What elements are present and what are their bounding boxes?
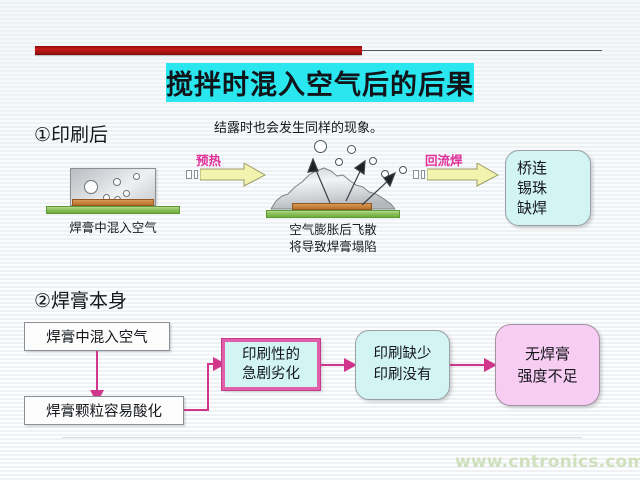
air-escape-arrows — [300, 145, 415, 210]
footer-rule — [62, 437, 582, 438]
pcb-board — [266, 210, 400, 218]
air-bubble-icon — [123, 190, 130, 197]
air-bubble-icon — [133, 173, 140, 180]
condensation-note: 结露时也会发生同样的现象。 — [214, 117, 383, 136]
air-bubble-icon — [84, 180, 98, 194]
preheat-arrow-icon — [200, 163, 266, 187]
preheat-lead-tick — [194, 170, 198, 179]
flow-box-particle-oxidize: 焊膏颗粒容易酸化 — [24, 396, 184, 425]
reflow-lead-tick — [421, 170, 425, 179]
air-bubble-icon — [113, 178, 121, 186]
flow-box-air-in-paste: 焊膏中混入空气 — [24, 322, 170, 351]
flow-arrow-line-3 — [450, 364, 488, 366]
pcb-board — [46, 206, 180, 214]
copper-pad — [72, 199, 154, 206]
flow-box-print-missing: 印刷缺少 印刷没有 — [355, 330, 450, 400]
section-2-heading: ②焊膏本身 — [34, 286, 127, 313]
reflow-arrow-icon — [427, 163, 499, 187]
flow-box-printability-degrade: 印刷性的 急剧劣化 — [222, 339, 320, 390]
defects-box: 桥连 锡珠 缺焊 — [505, 150, 591, 226]
flow-elbow-segment-v — [207, 364, 209, 411]
flow-arrow-down-line — [96, 351, 98, 395]
center-diagram-caption-line1: 空气膨胀后飞散 — [266, 222, 400, 238]
flow-elbow-segment-h1 — [184, 409, 209, 411]
header-thin-rule — [362, 50, 602, 51]
center-diagram-caption-line2: 将导致焊膏塌陷 — [266, 239, 400, 255]
reflow-lead-tick — [413, 170, 419, 179]
left-diagram-caption: 焊膏中混入空气 — [46, 220, 180, 236]
preheat-lead-tick — [186, 170, 192, 179]
flow-box-no-paste-strength: 无焊膏 强度不足 — [495, 324, 600, 406]
section-1-heading: ①印刷后 — [34, 120, 108, 147]
site-watermark: www.cntronics.com — [455, 452, 640, 472]
header-red-bar — [35, 46, 362, 55]
slide-canvas: 搅拌时混入空气后的后果 ①印刷后 结露时也会发生同样的现象。 焊膏中混入空气 预… — [0, 0, 640, 480]
page-title: 搅拌时混入空气后的后果 — [166, 63, 474, 102]
